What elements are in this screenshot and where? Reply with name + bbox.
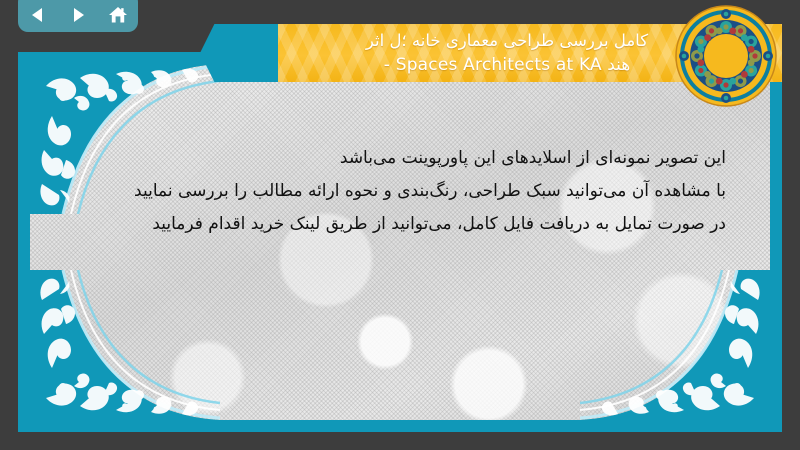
home-button[interactable] <box>105 2 131 28</box>
home-icon <box>107 4 129 26</box>
navigation-bar <box>18 0 138 32</box>
banner-title-line-1: کامل بررسی طراحی معماری خانه ؛ل اثر <box>366 29 648 53</box>
corner-ornament-bottom-right <box>580 270 770 420</box>
next-triangle-icon <box>68 5 88 25</box>
slide-viewer: این تصویر نمونه‌ای از اسلایدهای این پاور… <box>0 0 800 450</box>
slide-canvas: این تصویر نمونه‌ای از اسلایدهای این پاور… <box>18 52 782 432</box>
slide-content-panel: این تصویر نمونه‌ای از اسلایدهای این پاور… <box>30 64 770 420</box>
corner-ornament-bottom-left <box>30 270 220 420</box>
body-line-1: این تصویر نمونه‌ای از اسلایدهای این پاور… <box>70 142 726 175</box>
banner-title-line-2: هند Spaces Architects at KA - <box>384 53 631 78</box>
body-line-3: در صورت تمایل به دریافت فایل کامل، می‌تو… <box>70 208 726 241</box>
slide-body-text: این تصویر نمونه‌ای از اسلایدهای این پاور… <box>70 142 726 241</box>
mandala-medallion <box>674 4 778 108</box>
body-line-2: با مشاهده آن می‌توانید سبک طراحی، رنگ‌بن… <box>70 175 726 208</box>
previous-triangle-icon <box>28 5 48 25</box>
next-button[interactable] <box>65 2 91 28</box>
previous-button[interactable] <box>25 2 51 28</box>
banner-arrow-tab <box>200 24 280 82</box>
